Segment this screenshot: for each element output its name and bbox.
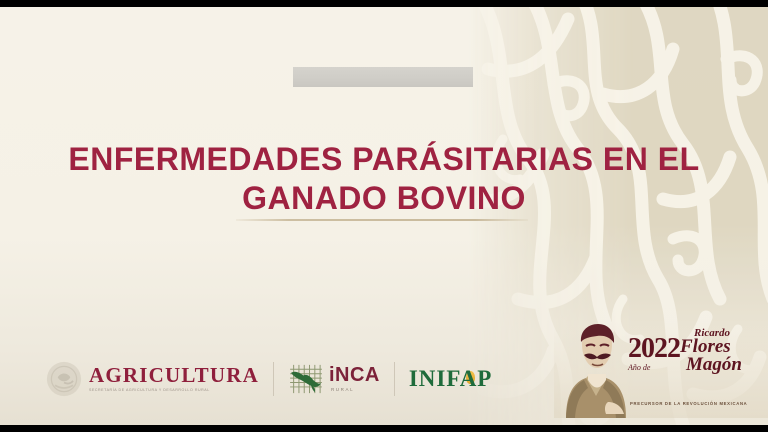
agricultura-text-block: AGRICULTURA SECRETARÍA DE AGRICULTURA Y … (89, 365, 259, 393)
logo-inca-rural: iNCA RURAL (288, 364, 380, 394)
logo-separator-1 (273, 362, 274, 396)
agricultura-subtitle: SECRETARÍA DE AGRICULTURA Y DESARROLLO R… (89, 389, 259, 393)
slide-canvas: ENFERMEDADES PARÁSITARIAS EN EL GANADO B… (0, 7, 768, 425)
presentation-slide: ENFERMEDADES PARÁSITARIAS EN EL GANADO B… (0, 0, 768, 432)
title-line-2: GANADO BOVINO (0, 179, 768, 218)
badge-tagline: PRECURSOR DE LA REVOLUCIÓN MEXICANA (630, 401, 766, 406)
footer-logo-strip: AGRICULTURA SECRETARÍA DE AGRICULTURA Y … (0, 333, 768, 425)
badge-name-line-3: Magón (686, 356, 742, 373)
inca-name: iNCA (329, 365, 380, 385)
inca-text-block: iNCA RURAL (329, 365, 380, 393)
agricultura-name: AGRICULTURA (89, 365, 259, 386)
commemorative-badge: 2022 Año de Ricardo Flores Magón PRECURS… (554, 322, 768, 418)
logo-inifap: INIFAP (409, 366, 493, 392)
inca-subtitle: RURAL (331, 388, 380, 393)
badge-name-block: Ricardo Flores Magón (680, 328, 742, 373)
inifap-name: INIFAP (409, 366, 493, 391)
redacted-text-box (293, 67, 473, 87)
letterbox-bottom-bar (0, 425, 768, 432)
logo-separator-2 (394, 362, 395, 396)
badge-year: 2022 (628, 336, 680, 363)
letterbox-top-bar (0, 0, 768, 7)
logo-agricultura: AGRICULTURA SECRETARÍA DE AGRICULTURA Y … (46, 361, 259, 397)
institution-logos: AGRICULTURA SECRETARÍA DE AGRICULTURA Y … (46, 355, 492, 403)
title-line-1: ENFERMEDADES PARÁSITARIAS EN EL (68, 141, 699, 177)
title-divider (236, 219, 528, 221)
mexico-map-icon (288, 364, 324, 394)
badge-name-line-2: Flores (680, 338, 742, 355)
page-title: ENFERMEDADES PARÁSITARIAS EN EL GANADO B… (0, 140, 768, 218)
ricardo-flores-magon-portrait-icon (558, 324, 630, 418)
mexican-national-seal-icon (46, 361, 82, 397)
